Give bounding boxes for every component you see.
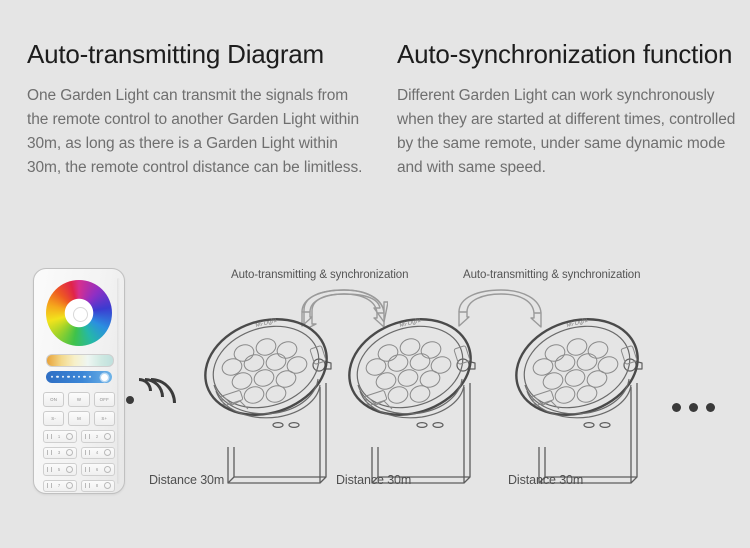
zone-number: 6 [96, 467, 98, 472]
zone-button-3[interactable]: 3 [43, 447, 77, 460]
zone-number: 7 [58, 483, 60, 488]
garden-light-illustration: Mi·Light [497, 305, 657, 490]
zone-row: 5 6 [43, 463, 115, 476]
left-heading: Auto-transmitting Diagram [27, 40, 367, 70]
garden-light-1: Mi·Light [186, 305, 346, 490]
garden-light-illustration: Mi·Light [330, 305, 490, 490]
remote-zone-keypad: 1 2 3 4 5 6 7 8 [43, 430, 115, 496]
remote-function-keypad: ON W OFF S- M S+ [43, 392, 115, 430]
zone-number: 3 [58, 450, 60, 455]
zone-bars-icon [47, 434, 52, 439]
arrow-caption-1: Auto-transmitting & synchronization [231, 269, 408, 281]
zone-button-6[interactable]: 6 [81, 463, 115, 476]
power-on-button[interactable]: ON [43, 392, 64, 407]
right-heading: Auto-synchronization function [397, 40, 742, 70]
zone-row: 1 2 [43, 430, 115, 443]
left-body-text: One Garden Light can transmit the signal… [27, 84, 367, 180]
zone-bars-icon [85, 434, 90, 439]
right-body-text: Different Garden Light can work synchron… [397, 84, 742, 180]
zone-number: 5 [58, 467, 60, 472]
zone-button-1[interactable]: 1 [43, 430, 77, 443]
zone-row: 3 4 [43, 447, 115, 460]
zone-bars-icon [47, 450, 52, 455]
speed-down-button[interactable]: S- [43, 411, 64, 426]
color-wheel-icon[interactable] [46, 280, 112, 346]
color-wheel-hub [73, 307, 88, 322]
brightness-slider[interactable] [46, 371, 112, 383]
distance-label-2: Distance 30m [336, 473, 411, 487]
keypad-row: ON W OFF [43, 392, 115, 407]
gear-icon [104, 449, 111, 456]
right-text-column: Auto-synchronization function Different … [397, 40, 742, 180]
zone-button-7[interactable]: 7 [43, 480, 77, 493]
gear-icon [104, 466, 111, 473]
zone-number: 2 [96, 434, 98, 439]
zone-bars-icon [85, 483, 90, 488]
zone-button-5[interactable]: 5 [43, 463, 77, 476]
remote-control: ON W OFF S- M S+ 1 2 3 4 [33, 268, 125, 494]
mode-button[interactable]: M [68, 411, 89, 426]
distance-label-3: Distance 30m [508, 473, 583, 487]
remote-side-edge [117, 278, 120, 484]
distance-label-1: Distance 30m [149, 473, 224, 487]
speed-up-button[interactable]: S+ [94, 411, 115, 426]
color-temperature-slider[interactable] [46, 354, 114, 367]
brightness-slider-knob[interactable] [101, 374, 108, 381]
rf-signal-waves-icon [126, 378, 178, 424]
gear-icon [104, 482, 111, 489]
garden-light-illustration: Mi·Light [186, 305, 346, 490]
garden-light-3: Mi·Light [497, 305, 657, 490]
gear-icon [104, 433, 111, 440]
white-mode-button[interactable]: W [68, 392, 89, 407]
brightness-slider-ticks [51, 376, 91, 378]
gear-icon [66, 482, 73, 489]
zone-button-2[interactable]: 2 [81, 430, 115, 443]
keypad-row: S- M S+ [43, 411, 115, 426]
zone-bars-icon [85, 467, 90, 472]
garden-light-2: Mi·Light [330, 305, 490, 490]
zone-row: 7 8 [43, 480, 115, 493]
zone-number: 4 [96, 450, 98, 455]
power-off-button[interactable]: OFF [94, 392, 115, 407]
illustration-scene: ON W OFF S- M S+ 1 2 3 4 [0, 250, 750, 548]
zone-bars-icon [47, 467, 52, 472]
zone-number: 1 [58, 434, 60, 439]
zone-button-8[interactable]: 8 [81, 480, 115, 493]
gear-icon [66, 449, 73, 456]
zone-bars-icon [85, 450, 90, 455]
diagram-page: Auto-transmitting Diagram One Garden Lig… [0, 0, 750, 548]
signal-arc-3 [116, 368, 187, 439]
continuation-ellipsis [672, 403, 715, 412]
zone-button-4[interactable]: 4 [81, 447, 115, 460]
gear-icon [66, 433, 73, 440]
zone-bars-icon [47, 483, 52, 488]
gear-icon [66, 466, 73, 473]
arrow-caption-2: Auto-transmitting & synchronization [463, 269, 640, 281]
left-text-column: Auto-transmitting Diagram One Garden Lig… [27, 40, 367, 180]
zone-number: 8 [96, 483, 98, 488]
